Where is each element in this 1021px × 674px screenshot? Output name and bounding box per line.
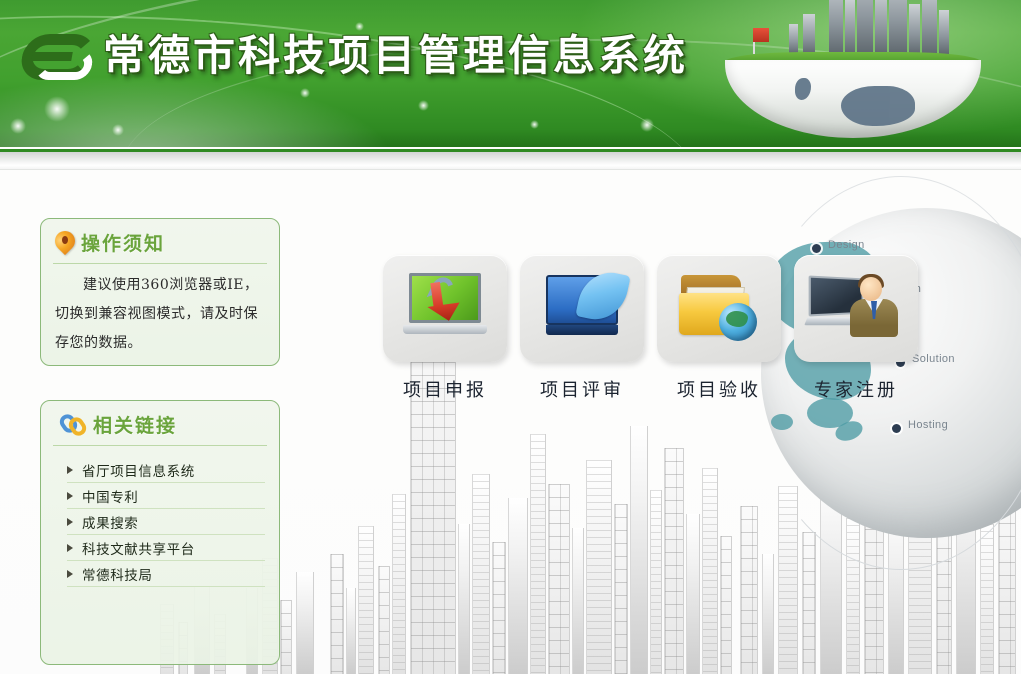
list-item[interactable]: 成果搜索: [67, 509, 265, 535]
entry-label: 专家注册: [794, 376, 918, 402]
list-item[interactable]: 省厅项目信息系统: [67, 457, 265, 483]
orbit-node-hosting: [892, 424, 901, 433]
link-label: 省厅项目信息系统: [82, 460, 195, 480]
entry-expert-registration[interactable]: 专家注册: [794, 255, 918, 402]
laptop-person-icon: [810, 275, 902, 341]
site-header: 常德市科技项目管理信息系统: [0, 0, 1021, 147]
entry-label: 项目申报: [383, 376, 507, 402]
notice-panel-title: 操作须知: [81, 229, 165, 256]
header-sparkle: [44, 96, 70, 122]
list-item[interactable]: 常德科技局: [67, 561, 265, 587]
list-item[interactable]: 科技文献共享平台: [67, 535, 265, 561]
link-label: 科技文献共享平台: [82, 538, 195, 558]
header-sparkle: [10, 118, 26, 134]
link-label: 中国专利: [82, 486, 138, 506]
laptop-red-arrow-icon: [403, 273, 487, 343]
header-sparkle: [112, 124, 124, 136]
main-navbar[interactable]: [0, 152, 1021, 170]
related-links-panel: 相关链接 省厅项目信息系统 中国专利 成果搜索 科技文献共享平台 常德科: [40, 400, 280, 665]
entry-tile[interactable]: [383, 255, 507, 362]
triangle-bullet-icon: [67, 544, 73, 552]
notice-panel-rule: [53, 263, 267, 264]
links-panel-rule: [53, 445, 267, 446]
entry-project-declaration[interactable]: 项目申报: [383, 255, 507, 402]
list-item[interactable]: 中国专利: [67, 483, 265, 509]
triangle-bullet-icon: [67, 570, 73, 578]
notice-panel-header: 操作须知: [55, 229, 165, 256]
chain-link-icon: [61, 413, 87, 437]
links-panel-title: 相关链接: [93, 411, 177, 438]
related-links-list: 省厅项目信息系统 中国专利 成果搜索 科技文献共享平台 常德科技局: [67, 457, 265, 587]
links-panel-header: 相关链接: [61, 411, 177, 438]
triangle-bullet-icon: [67, 492, 73, 500]
entry-button-group: 项目申报 项目评审 项目验收: [383, 255, 973, 410]
folder-globe-icon: [675, 273, 763, 343]
triangle-bullet-icon: [67, 466, 73, 474]
entry-label: 项目评审: [520, 376, 644, 402]
header-sparkle: [418, 100, 429, 111]
notice-text: 建议使用360浏览器或IE，切换到兼容视图模式，请及时保存您的数据。: [55, 271, 271, 358]
link-label: 成果搜索: [82, 512, 138, 532]
entry-tile[interactable]: [520, 255, 644, 362]
entry-project-review[interactable]: 项目评审: [520, 255, 644, 402]
orbit-node-design: [812, 244, 821, 253]
map-pin-icon: [55, 231, 75, 255]
page-title: 常德市科技项目管理信息系统: [103, 22, 688, 83]
entry-project-acceptance[interactable]: 项目验收: [657, 255, 781, 402]
city-globe-illustration: [703, 8, 1003, 140]
header-sparkle: [640, 118, 654, 132]
monitor-feather-pen-icon: [540, 275, 624, 341]
site-logo-icon[interactable]: [22, 28, 94, 86]
link-label: 常德科技局: [82, 564, 153, 584]
header-sparkle: [300, 88, 310, 98]
operation-notice-panel: 操作须知 建议使用360浏览器或IE，切换到兼容视图模式，请及时保存您的数据。: [40, 218, 280, 366]
orbit-label-design: Design: [828, 239, 865, 251]
entry-tile[interactable]: [657, 255, 781, 362]
orbit-label-hosting: Hosting: [908, 419, 948, 431]
triangle-bullet-icon: [67, 518, 73, 526]
page-root: 常德市科技项目管理信息系统: [0, 0, 1021, 674]
entry-tile[interactable]: [794, 255, 918, 362]
header-sparkle: [530, 120, 539, 129]
entry-label: 项目验收: [657, 376, 781, 402]
